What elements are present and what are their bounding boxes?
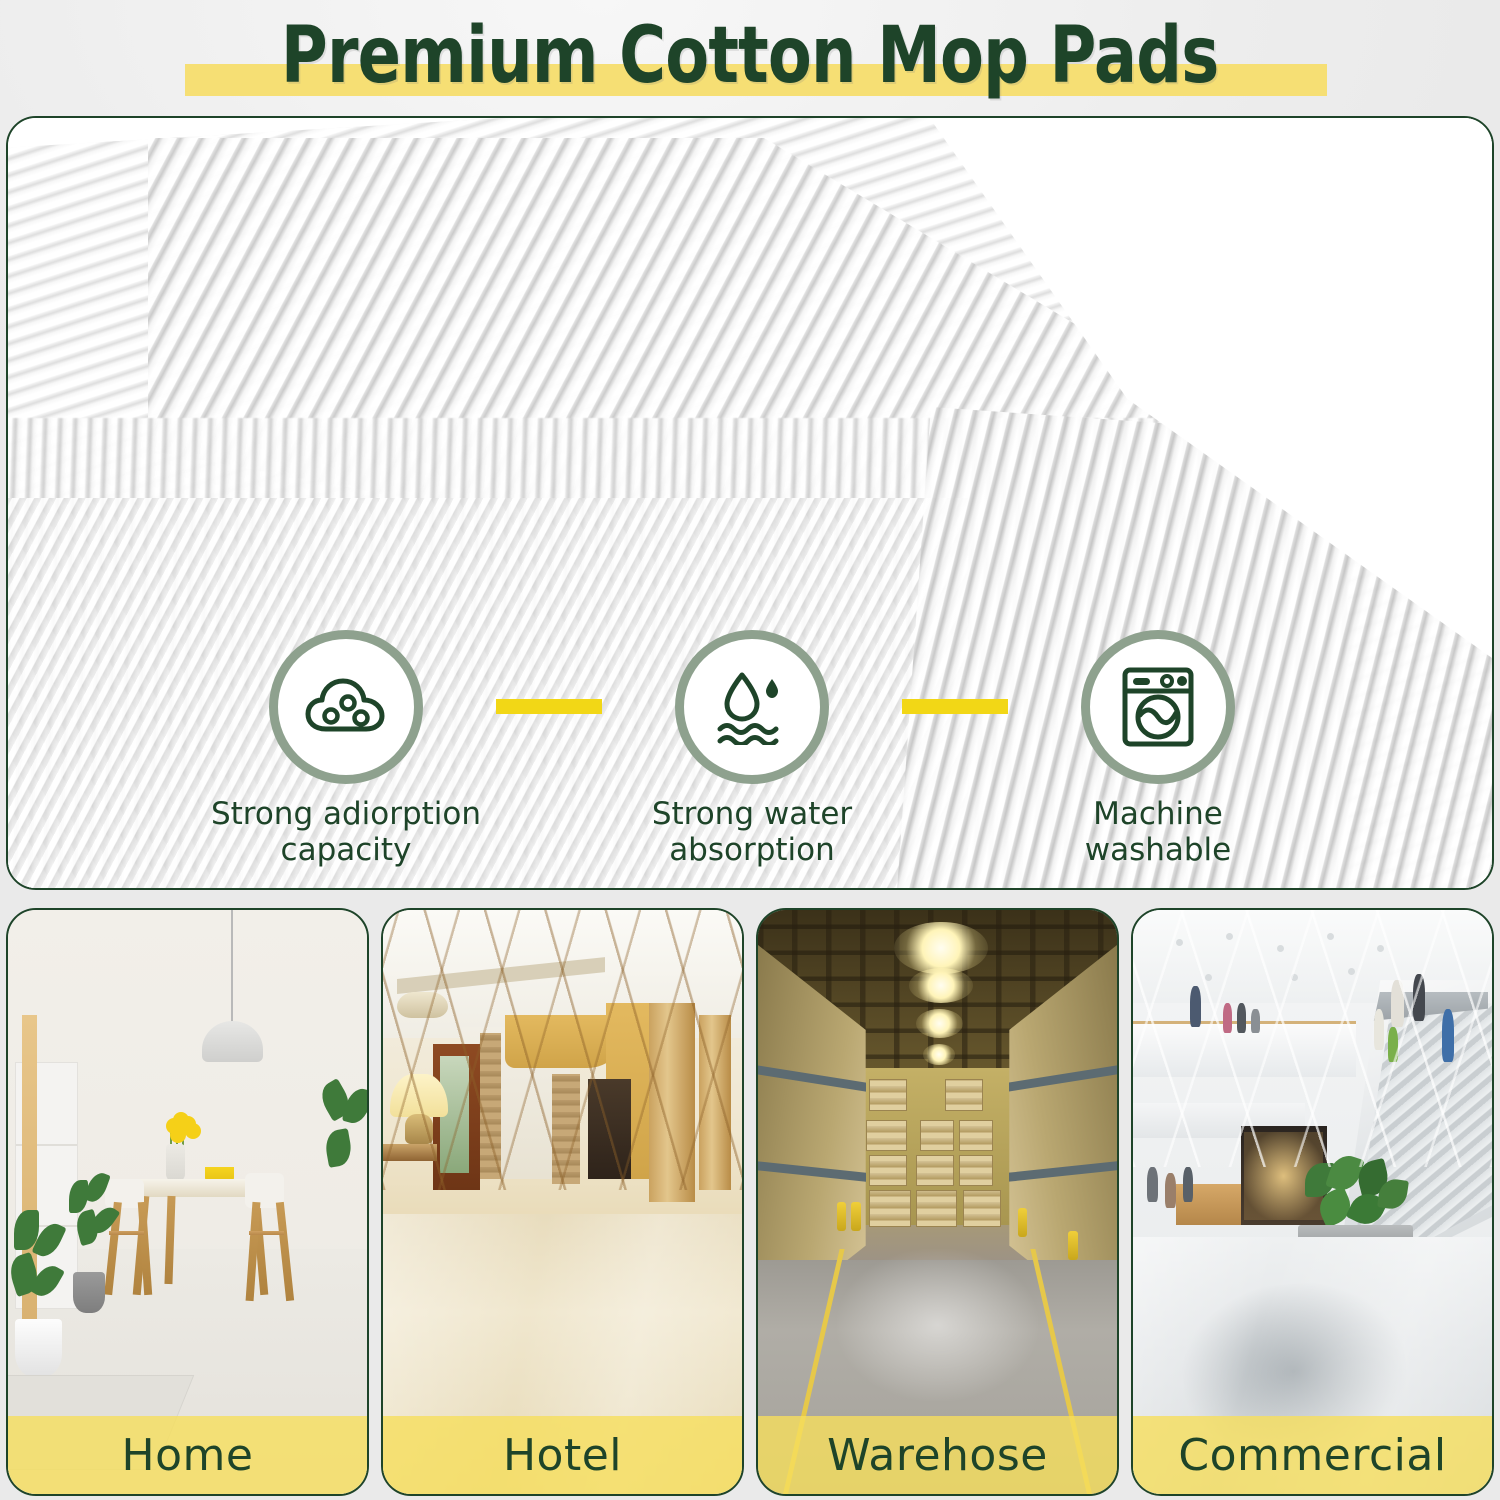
scene-card-home[interactable]: Home — [6, 908, 369, 1496]
feature-absorption-capacity: Strong adiorption capacity — [196, 630, 496, 868]
header: Premium Cotton Mop Pads — [0, 0, 1500, 112]
scene-label: Warehose — [758, 1416, 1117, 1494]
feature-water-absorption: Strong water absorption — [602, 630, 902, 868]
scene-label: Commercial — [1133, 1416, 1492, 1494]
title-wrap: Premium Cotton Mop Pads — [0, 0, 1500, 112]
feature-label: Strong adiorption capacity — [211, 796, 481, 868]
hero-panel: Strong adiorption capacity Strong water … — [6, 116, 1494, 890]
feature-row: Strong adiorption capacity Strong water … — [8, 630, 1494, 890]
warehouse-photo — [758, 910, 1117, 1494]
hotel-photo — [383, 910, 742, 1494]
feature-label: Machine washable — [1085, 796, 1232, 868]
absorption-cloud-icon — [304, 672, 388, 742]
feature-icon-circle — [675, 630, 829, 784]
water-drop-waves-icon — [710, 669, 794, 745]
scene-card-warehouse[interactable]: Warehose — [756, 908, 1119, 1496]
scene-grid: Home — [6, 908, 1494, 1496]
scene-label: Hotel — [383, 1416, 742, 1494]
infographic-root: Premium Cotton Mop Pads — [0, 0, 1500, 1500]
feature-machine-washable: Machine washable — [1008, 630, 1308, 868]
home-photo — [8, 910, 367, 1494]
scene-card-hotel[interactable]: Hotel — [381, 908, 744, 1496]
washing-machine-icon — [1118, 665, 1198, 749]
scene-label: Home — [8, 1416, 367, 1494]
feature-icon-circle — [1081, 630, 1235, 784]
title-inner: Premium Cotton Mop Pads — [178, 8, 1321, 104]
commercial-photo — [1133, 910, 1492, 1494]
connector-dash-2 — [902, 699, 1008, 714]
feature-label: Strong water absorption — [652, 796, 852, 868]
connector-dash-1 — [496, 699, 602, 714]
feature-icon-circle — [269, 630, 423, 784]
scene-card-commercial[interactable]: Commercial — [1131, 908, 1494, 1496]
page-title: Premium Cotton Mop Pads — [281, 8, 1219, 104]
